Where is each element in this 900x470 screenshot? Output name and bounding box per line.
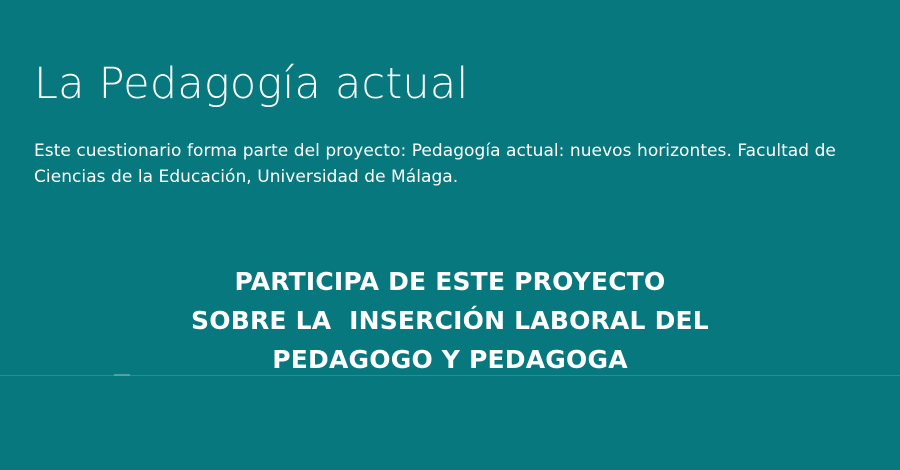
banner-root: La Pedagogía actual Este cuestionario fo… — [0, 0, 900, 470]
banner-lower-region — [0, 376, 900, 470]
call-to-action-block: PARTICIPA DE ESTE PROYECTO SOBRE LA INSE… — [0, 263, 900, 379]
page-subtitle: Este cuestionario forma parte del proyec… — [34, 109, 886, 191]
call-to-action-line-2: SOBRE LA INSERCIÓN LABORAL DEL — [0, 302, 900, 341]
call-to-action-line-1: PARTICIPA DE ESTE PROYECTO — [0, 263, 900, 302]
intro-block: La Pedagogía actual Este cuestionario fo… — [34, 60, 886, 191]
call-to-action-line-3: PEDAGOGO Y PEDAGOGA — [0, 341, 900, 380]
page-title: La Pedagogía actual — [34, 60, 886, 109]
banner-upper-region: La Pedagogía actual Este cuestionario fo… — [0, 0, 900, 375]
